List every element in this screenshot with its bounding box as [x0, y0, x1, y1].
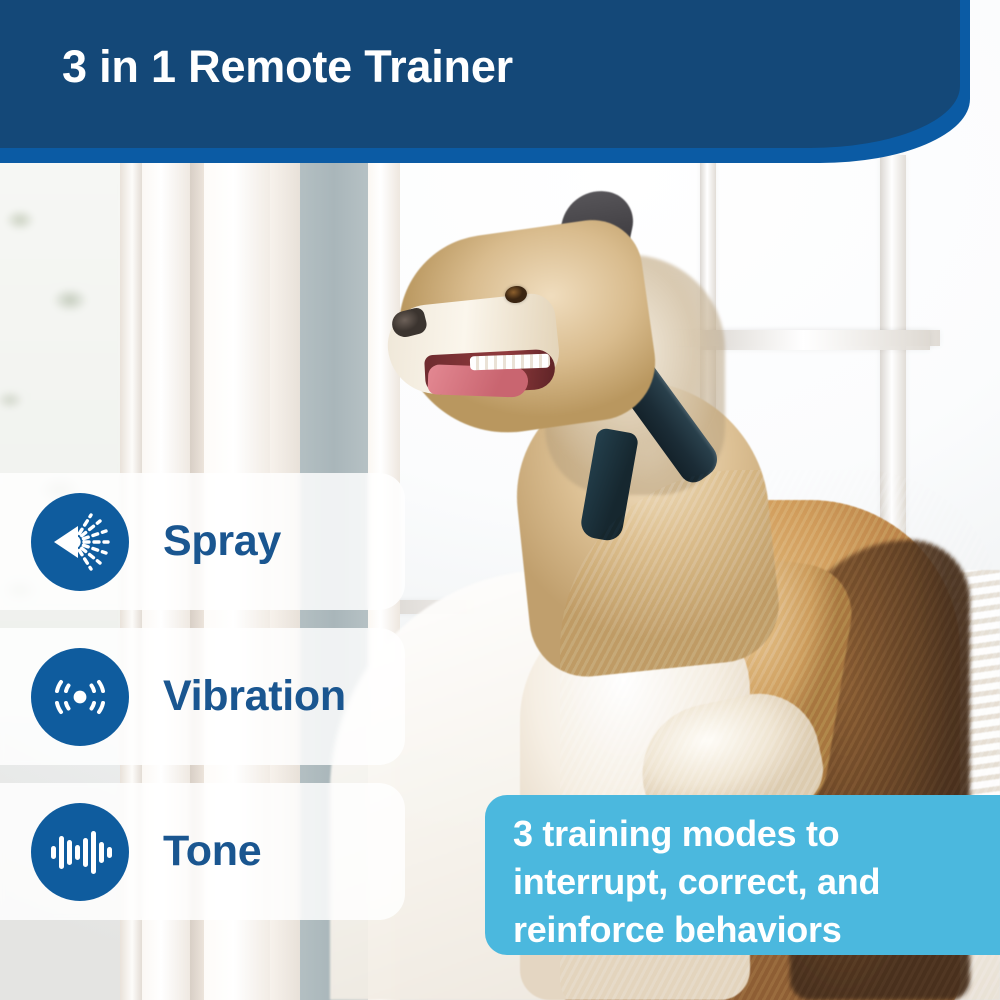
feature-label-vibration: Vibration	[163, 672, 346, 721]
caption-line-3: reinforce behaviors	[513, 906, 980, 954]
caption-line-1: 3 training modes to	[513, 810, 980, 858]
caption-line-2: interrupt, correct, and	[513, 858, 980, 906]
feature-label-spray: Spray	[163, 517, 281, 566]
feature-pill-spray[interactable]: Spray	[0, 473, 405, 610]
feature-pill-vibration[interactable]: Vibration	[0, 628, 405, 765]
header-banner: 3 in 1 Remote Trainer	[0, 0, 1000, 175]
feature-label-tone: Tone	[163, 827, 261, 876]
dog-teeth	[470, 354, 550, 371]
page-title: 3 in 1 Remote Trainer	[62, 41, 513, 93]
feature-pill-tone[interactable]: Tone	[0, 783, 405, 920]
product-feature-image: 3 in 1 Remote Trainer Spray	[0, 0, 1000, 1000]
sound-waveform-icon	[31, 803, 129, 901]
caption-callout: 3 training modes to interrupt, correct, …	[485, 795, 1000, 955]
spray-nozzle-icon	[31, 493, 129, 591]
vibration-waves-icon	[31, 648, 129, 746]
